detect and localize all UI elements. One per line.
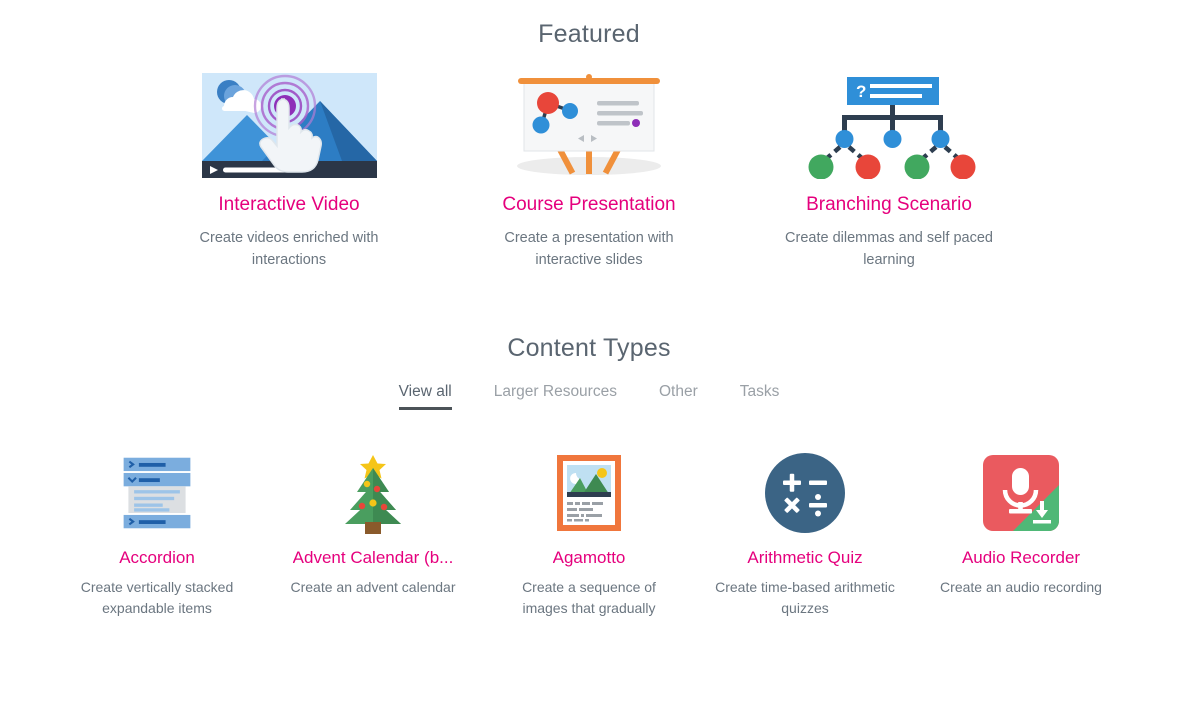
featured-card-description: Create videos enriched with interactions [174,227,404,272]
branching-scenario-icon: ? [802,71,977,179]
featured-card-title: Course Presentation [502,194,675,217]
tab-label: Larger Resources [494,383,617,400]
tab-label: Other [659,383,698,400]
featured-card-branching-scenario[interactable]: ? [739,71,1039,272]
arithmetic-quiz-icon [764,452,846,534]
content-type-card-description: Create an advent calendar [291,577,456,599]
featured-section-title: Featured [0,0,1178,49]
content-type-card-description: Create vertically stacked expandable ite… [67,577,247,620]
advent-calendar-icon [332,452,414,534]
tab-other[interactable]: Other [638,383,719,410]
content-type-card-advent-calendar[interactable]: Advent Calendar (b... Create an advent c… [265,452,481,620]
content-type-card-title: Advent Calendar (b... [293,548,454,568]
content-type-selector-page: Featured [0,0,1178,728]
featured-card-course-presentation[interactable]: Course Presentation Create a presentatio… [439,71,739,272]
tab-tasks[interactable]: Tasks [719,383,801,410]
tab-larger-resources[interactable]: Larger Resources [473,383,638,410]
tab-view-all[interactable]: View all [378,383,473,410]
content-type-card-title: Audio Recorder [962,548,1080,568]
featured-card-description: Create a presentation with interactive s… [474,227,704,272]
content-types-section-title: Content Types [0,334,1178,363]
content-type-card-description: Create an audio recording [940,577,1102,599]
audio-recorder-icon [980,452,1062,534]
content-type-card-agamotto[interactable]: Agamotto Create a sequence of images tha… [481,452,697,620]
content-type-card-description: Create time-based arithmetic quizzes [715,577,895,620]
course-presentation-icon [502,71,677,179]
agamotto-icon [548,452,630,534]
content-type-card-title: Agamotto [553,548,626,568]
content-type-card-description: Create a sequence of images that gradual… [499,577,679,620]
svg-text:?: ? [856,82,866,101]
content-type-card-audio-recorder[interactable]: Audio Recorder Create an audio recording [913,452,1129,620]
accordion-icon [116,452,198,534]
tab-label: Tasks [740,383,780,400]
tab-label: View all [399,383,452,400]
featured-card-title: Interactive Video [218,194,359,217]
featured-card-interactive-video[interactable]: Interactive Video Create videos enriched… [139,71,439,272]
content-type-card-title: Arithmetic Quiz [747,548,862,568]
featured-card-title: Branching Scenario [806,194,972,217]
content-types-tabs: View all Larger Resources Other Tasks [0,383,1178,410]
content-type-card-arithmetic-quiz[interactable]: Arithmetic Quiz Create time-based arithm… [697,452,913,620]
interactive-video-icon [202,71,377,179]
content-type-card-accordion[interactable]: Accordion Create vertically stacked expa… [49,452,265,620]
featured-card-description: Create dilemmas and self paced learning [774,227,1004,272]
featured-items-row: Interactive Video Create videos enriched… [0,71,1178,272]
content-types-grid: Accordion Create vertically stacked expa… [0,452,1178,620]
content-type-card-title: Accordion [119,548,195,568]
